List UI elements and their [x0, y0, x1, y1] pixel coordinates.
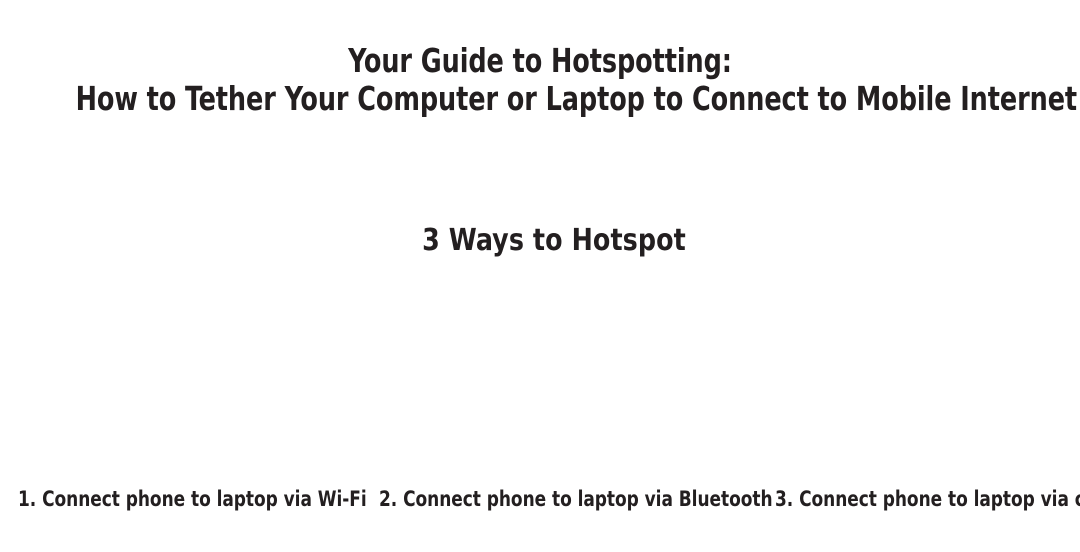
illustration-band: [0, 280, 1080, 475]
title-line-2: How to Tether Your Computer or Laptop to…: [76, 80, 1005, 118]
page-title: Your Guide to Hotspotting: How to Tether…: [0, 42, 1080, 118]
illustration-slot-3: [720, 280, 1080, 475]
step-caption-2: 2. Connect phone to laptop via Bluetooth: [379, 486, 773, 512]
illustration-slot-1: [0, 280, 360, 475]
section-heading: 3 Ways to Hotspot: [33, 222, 1075, 260]
step-captions-row: 1. Connect phone to laptop via Wi-Fi 2. …: [0, 486, 1080, 516]
illustration-slot-2: [360, 280, 720, 475]
infographic-page: Your Guide to Hotspotting: How to Tether…: [0, 0, 1080, 552]
title-line-1: Your Guide to Hotspotting:: [76, 42, 1005, 80]
step-caption-3: 3. Connect phone to laptop via cable: [775, 486, 1080, 512]
step-caption-1: 1. Connect phone to laptop via Wi-Fi: [18, 486, 367, 512]
